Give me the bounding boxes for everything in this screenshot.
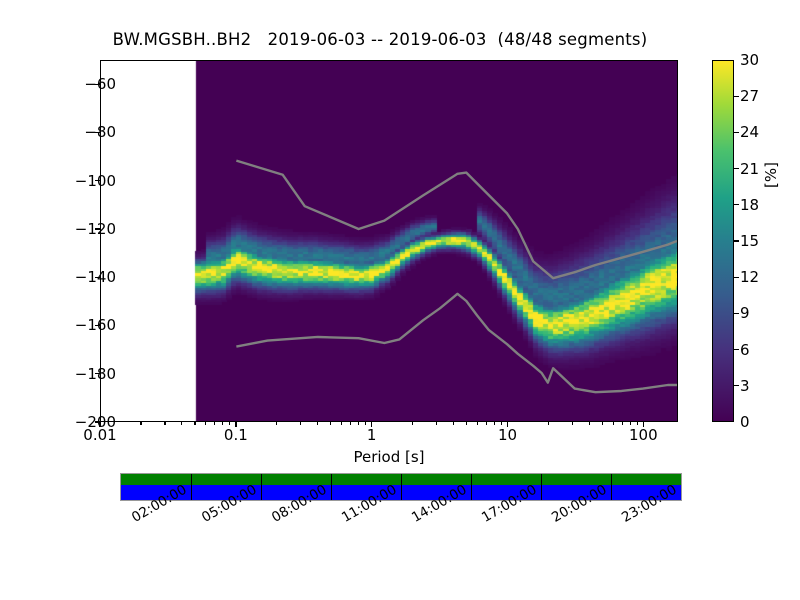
x-axis-minor-tick-mark <box>572 422 573 425</box>
y-axis-tick-label: −80 <box>84 123 116 141</box>
x-axis-tick-mark <box>371 422 372 427</box>
x-axis-minor-tick-mark <box>630 422 631 425</box>
colorbar-tick-mark <box>734 277 739 278</box>
timeline-segment-divider <box>191 474 192 500</box>
x-axis-minor-tick-mark <box>181 422 182 425</box>
timeline-segment-divider <box>261 474 262 500</box>
x-axis-minor-tick-mark <box>164 422 165 425</box>
y-axis-tick-mark <box>95 84 100 85</box>
y-axis-tick-mark <box>95 228 100 229</box>
page-title: BW.MGSBH..BH2 2019-06-03 -- 2019-06-03 (… <box>0 30 760 49</box>
colorbar-tick-label: 18 <box>740 196 759 214</box>
colorbar-tick-mark <box>734 240 739 241</box>
noise-model-lines <box>101 61 677 421</box>
colorbar-tick-label: 9 <box>740 304 750 322</box>
x-axis-minor-tick-mark <box>205 422 206 425</box>
x-axis-minor-tick-mark <box>341 422 342 425</box>
x-axis-minor-tick-mark <box>637 422 638 425</box>
y-axis-tick-label: −60 <box>84 75 116 93</box>
x-axis-minor-tick-mark <box>412 422 413 425</box>
x-axis-minor-tick-mark <box>350 422 351 425</box>
colorbar-tick-label: 6 <box>740 341 750 359</box>
x-axis-minor-tick-mark <box>602 422 603 425</box>
x-axis-minor-tick-mark <box>589 422 590 425</box>
x-axis-label: Period [s] <box>100 448 678 466</box>
x-axis-minor-tick-mark <box>140 422 141 425</box>
x-axis-tick-mark <box>235 422 236 427</box>
y-axis-tick-mark <box>95 132 100 133</box>
ppsd-plot-area[interactable] <box>100 60 678 422</box>
x-axis-minor-tick-mark <box>453 422 454 425</box>
colorbar <box>712 60 734 422</box>
x-axis-minor-tick-mark <box>330 422 331 425</box>
x-axis-tick-label: 1 <box>367 426 377 444</box>
x-axis-minor-tick-mark <box>222 422 223 425</box>
colorbar-label: [%] <box>762 135 780 215</box>
y-axis-tick-mark <box>95 180 100 181</box>
colorbar-tick-label: 27 <box>740 87 759 105</box>
x-axis-minor-tick-mark <box>501 422 502 425</box>
x-axis-minor-tick-mark <box>317 422 318 425</box>
x-axis-minor-tick-mark <box>194 422 195 425</box>
timeline-segment-divider <box>611 474 612 500</box>
colorbar-tick-mark <box>734 385 739 386</box>
x-axis-minor-tick-mark <box>436 422 437 425</box>
x-axis-minor-tick-mark <box>276 422 277 425</box>
timeline-segment-divider <box>331 474 332 500</box>
x-axis-minor-tick-mark <box>214 422 215 425</box>
x-axis-minor-tick-mark <box>622 422 623 425</box>
colorbar-tick-mark <box>734 168 739 169</box>
x-axis-minor-tick-mark <box>229 422 230 425</box>
colorbar-tick-label: 0 <box>740 413 750 431</box>
x-axis-tick-label: 0.1 <box>224 426 248 444</box>
timeline-segment-divider <box>401 474 402 500</box>
y-axis-tick-mark <box>95 277 100 278</box>
colorbar-tick-mark <box>734 313 739 314</box>
colorbar-tick-label: 21 <box>740 160 759 178</box>
x-axis-tick-label: 10 <box>498 426 517 444</box>
x-axis-minor-tick-mark <box>365 422 366 425</box>
x-axis-minor-tick-mark <box>466 422 467 425</box>
colorbar-tick-label: 24 <box>740 123 759 141</box>
colorbar-tick-label: 3 <box>740 377 750 395</box>
timeline-segment-divider <box>541 474 542 500</box>
colorbar-tick-mark <box>734 349 739 350</box>
colorbar-tick-label: 12 <box>740 268 759 286</box>
x-axis-tick-label: 0.01 <box>83 426 116 444</box>
x-axis-minor-tick-mark <box>477 422 478 425</box>
colorbar-tick-mark <box>734 204 739 205</box>
y-axis-tick-mark <box>95 325 100 326</box>
x-axis-tick-mark <box>507 422 508 427</box>
timeline-segment-divider <box>471 474 472 500</box>
colorbar-tick-mark <box>734 132 739 133</box>
x-axis-tick-mark <box>99 422 100 427</box>
x-axis-tick-mark <box>643 422 644 427</box>
x-axis-tick-label: 100 <box>629 426 658 444</box>
x-axis-minor-tick-mark <box>358 422 359 425</box>
colorbar-tick-mark <box>734 96 739 97</box>
colorbar-tick-label: 15 <box>740 232 759 250</box>
y-axis-tick-mark <box>95 373 100 374</box>
x-axis-minor-tick-mark <box>548 422 549 425</box>
x-axis-minor-tick-mark <box>300 422 301 425</box>
x-axis-minor-tick-mark <box>486 422 487 425</box>
x-axis-minor-tick-mark <box>613 422 614 425</box>
colorbar-tick-label: 30 <box>740 51 759 69</box>
x-axis-minor-tick-mark <box>494 422 495 425</box>
